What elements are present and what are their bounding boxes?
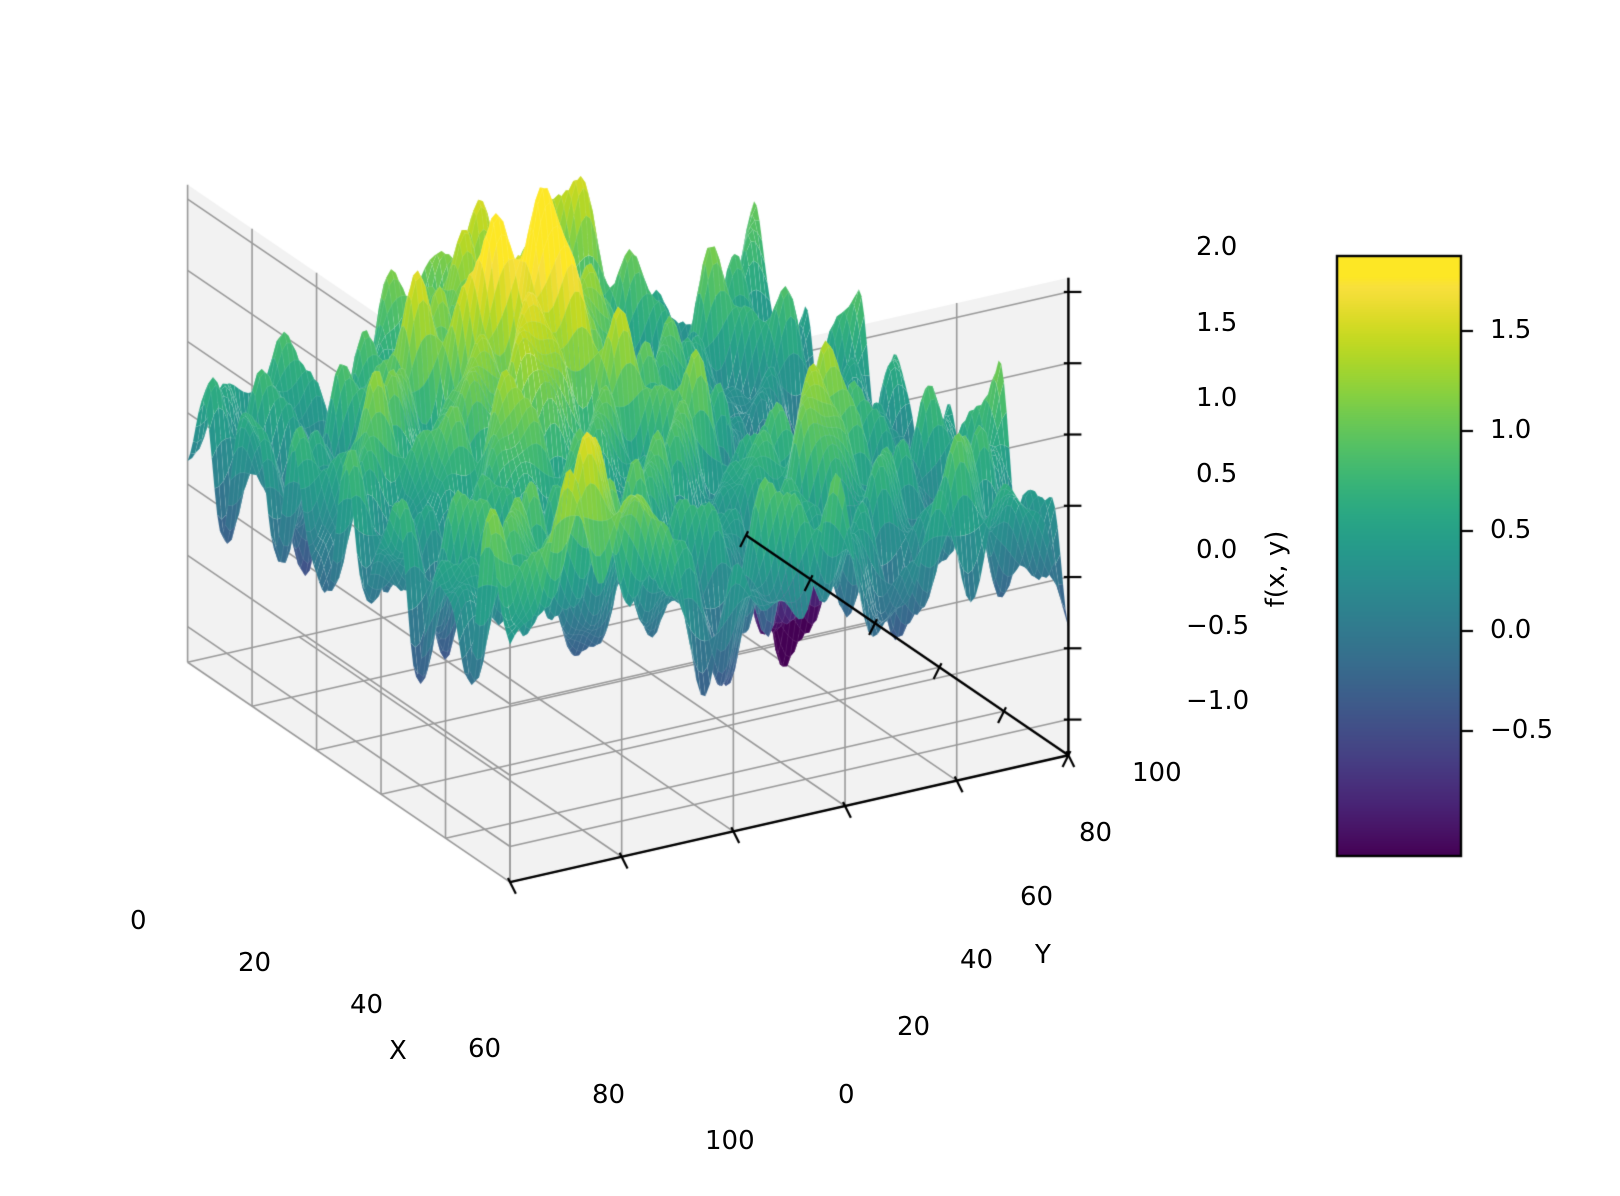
figure-canvas-root: 0204060801001008060402002.01.51.00.50.0−… [0,0,1620,1196]
surface-3d-plot[interactable] [0,0,1620,1196]
